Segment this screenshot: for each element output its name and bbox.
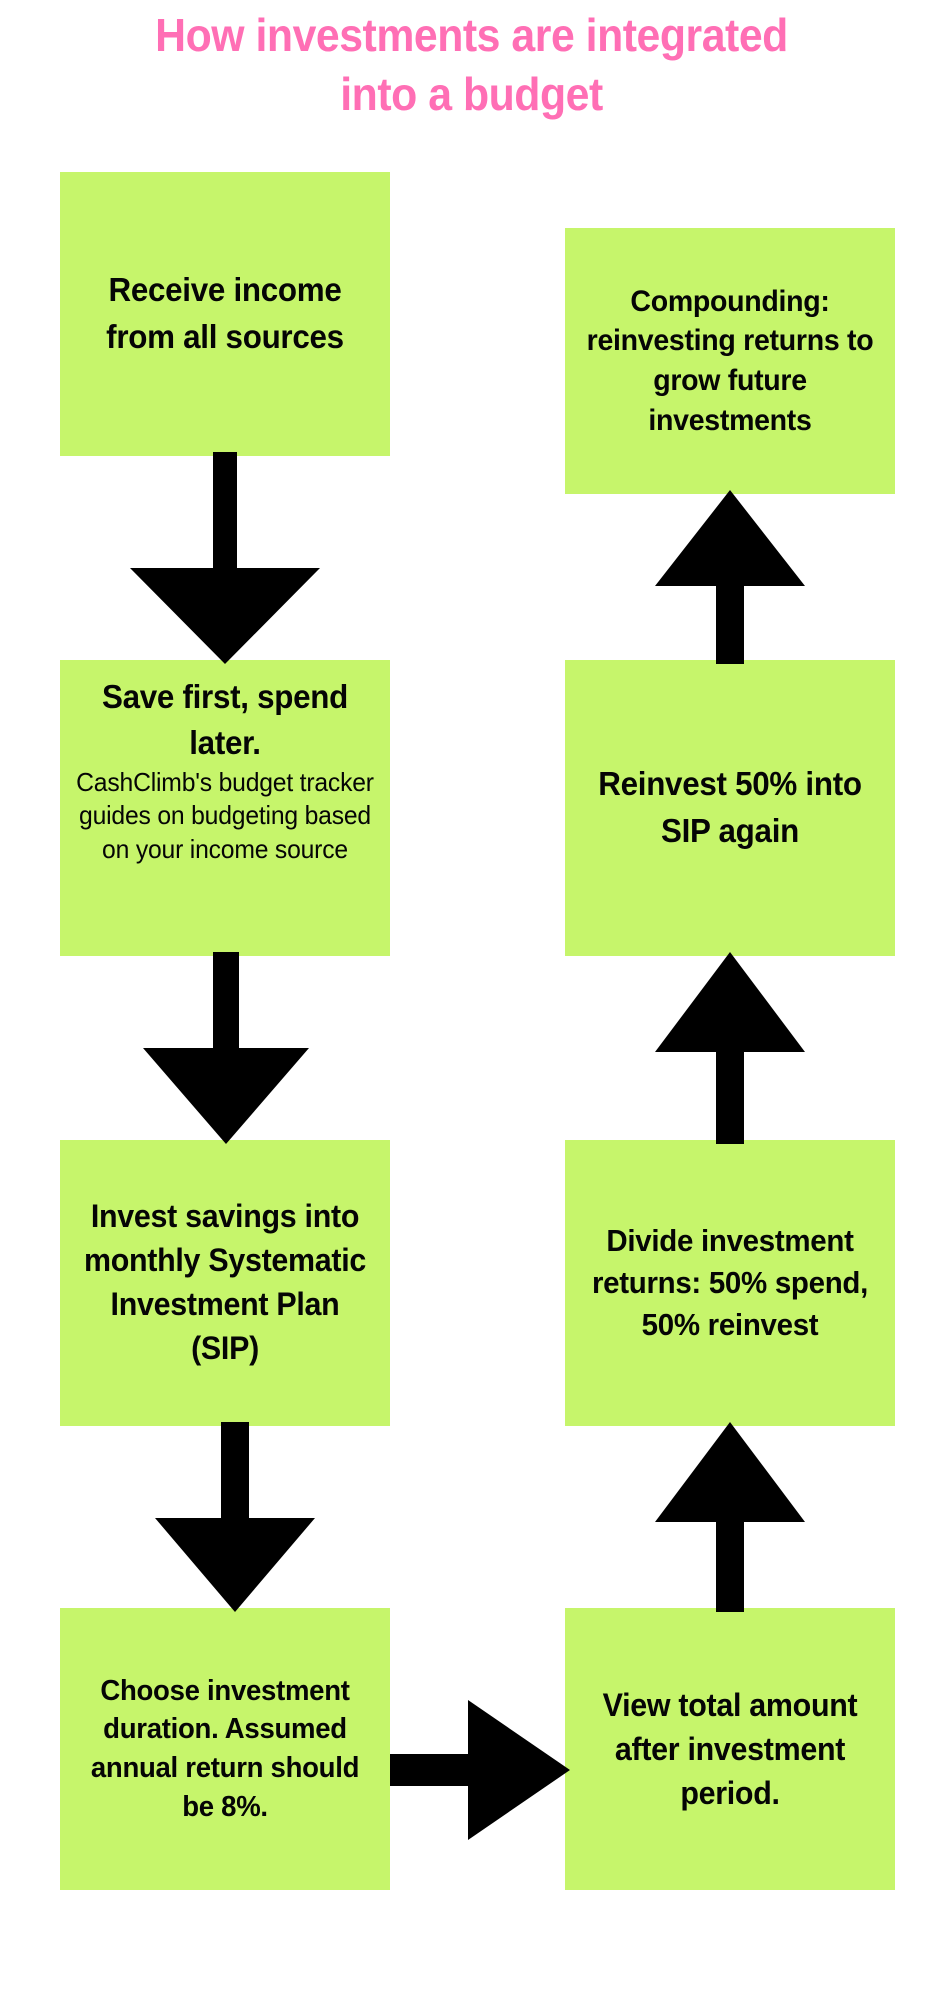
arrow-down-icon-invest-to-duration [155,1422,315,1612]
arrow-down-icon-income-to-save [130,452,320,664]
arrow-up-icon-reinvest-to-compounding [655,490,805,664]
flow-box-duration-text: Choose investment duration. Assumed annu… [74,1672,376,1826]
flow-box-income[interactable]: Receive income from all sources [60,172,390,456]
flow-box-invest[interactable]: Invest savings into monthly Systematic I… [60,1140,390,1426]
page-title-line-2: into a budget [33,65,910,124]
flow-box-reinvest[interactable]: Reinvest 50% into SIP again [565,660,895,956]
flow-box-save-description: CashClimb's budget tracker guides on bud… [74,766,376,866]
flow-box-view-total-text: View total amount after investment perio… [579,1683,881,1815]
flow-box-invest-text: Invest savings into monthly Systematic I… [74,1195,376,1370]
flow-box-save[interactable]: Save first, spend later. CashClimb's bud… [60,660,390,956]
flow-box-income-text: Receive income from all sources [74,267,376,361]
page-title-line-1: How investments are integrated [33,6,910,65]
flow-box-compounding[interactable]: Compounding: reinvesting returns to grow… [565,228,895,494]
flow-box-save-heading: Save first, spend later. [74,674,376,765]
arrow-up-icon-divide-to-reinvest [655,952,805,1144]
flow-box-compounding-text: Compounding: reinvesting returns to grow… [579,282,881,440]
flow-box-view-total[interactable]: View total amount after investment perio… [565,1608,895,1890]
arrow-right-icon-duration-to-view [390,1700,570,1840]
arrow-down-icon-save-to-invest [143,952,309,1144]
flow-box-reinvest-text: Reinvest 50% into SIP again [579,761,881,855]
flow-box-divide-returns-text: Divide investment returns: 50% spend, 50… [579,1220,881,1346]
infographic-canvas: How investments are integrated into a bu… [0,0,943,2000]
flow-box-duration[interactable]: Choose investment duration. Assumed annu… [60,1608,390,1890]
arrow-up-icon-view-to-divide [655,1422,805,1612]
page-title: How investments are integrated into a bu… [33,6,910,124]
flow-box-divide-returns[interactable]: Divide investment returns: 50% spend, 50… [565,1140,895,1426]
